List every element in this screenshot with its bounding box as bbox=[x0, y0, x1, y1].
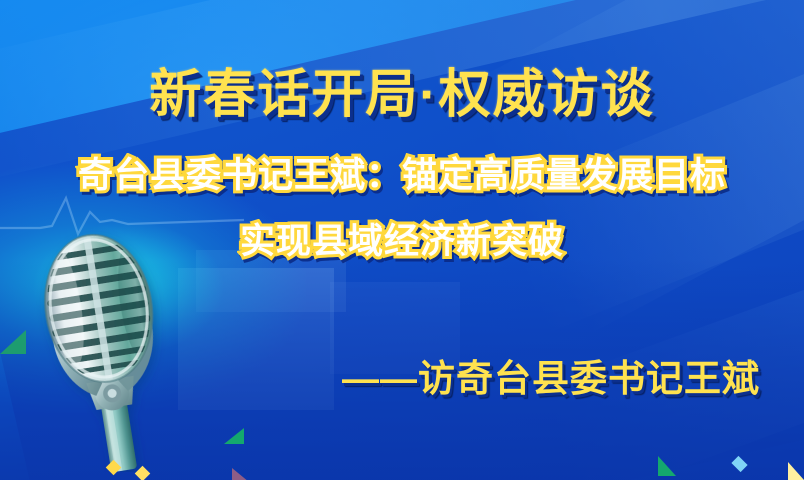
news-banner-poster: 新春话开局·权威访谈 奇台县委书记王斌：锚定高质量发展目标 实现县域经济新突破 … bbox=[0, 0, 804, 480]
confetti-diamond-yellow-3 bbox=[788, 462, 804, 480]
confetti-triangle-purple-1 bbox=[232, 468, 249, 480]
subtitle-line-2: 实现县域经济新突破 bbox=[0, 213, 804, 264]
subtitle-line-1: 奇台县委书记王斌：锚定高质量发展目标 bbox=[0, 147, 804, 198]
page-title: 新春话开局·权威访谈 bbox=[0, 52, 804, 127]
confetti-triangle-green-2 bbox=[658, 456, 676, 476]
confetti-triangle-green-1 bbox=[224, 428, 244, 444]
attribution-line: ——访奇台县委书记王斌 bbox=[342, 348, 760, 402]
